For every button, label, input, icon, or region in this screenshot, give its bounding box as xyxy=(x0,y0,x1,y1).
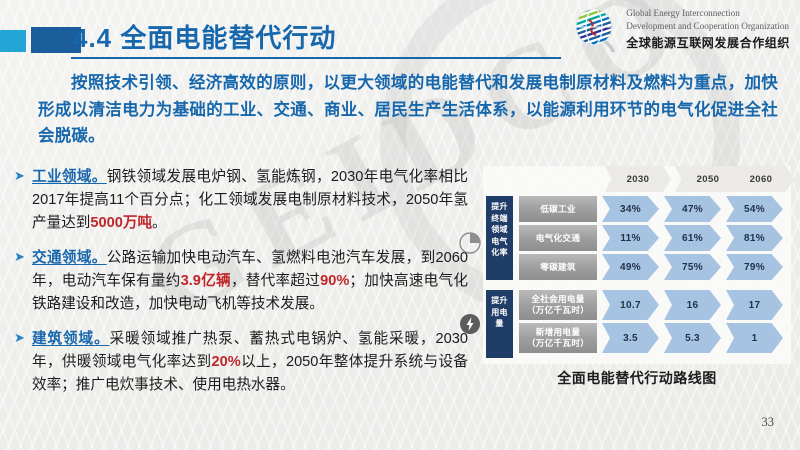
roadmap-group-label: 提升 终端 领域 电气 化率 xyxy=(486,196,513,280)
bullet-arrow-icon: ➤ xyxy=(14,250,25,263)
bullet-term-separator: 。 xyxy=(92,250,107,266)
category-line: （万亿千瓦时） xyxy=(527,338,589,349)
bullet-item-industry: ➤ 工业领域。钢铁领域发展电炉钢、氢能炼钢，2030年电气化率相比2017年提高… xyxy=(10,166,468,235)
bullet-arrow-icon: ➤ xyxy=(14,169,25,182)
group-label-line: 用电 xyxy=(487,307,512,319)
bullet-highlight-2: 90% xyxy=(320,273,349,289)
row-category-label: 全社会用电量 （万亿千瓦时） xyxy=(519,290,597,320)
group-label-line: 提升 xyxy=(487,201,512,213)
table-row: 低碳工业 34% 47% 54% xyxy=(519,196,783,222)
logo-chinese-name: 全球能源互联网发展合作组织 xyxy=(626,34,790,51)
roadmap-group-rows: 全社会用电量 （万亿千瓦时） 10.7 16 17 新增用电量 （万亿千瓦时） … xyxy=(519,290,783,356)
category-line: （万亿千瓦时） xyxy=(527,305,589,316)
group-label-line: 终端 xyxy=(487,213,512,225)
row-value-2060: 1 xyxy=(726,323,783,353)
logo-english-line-2: Development and Cooperation Organization xyxy=(626,20,790,32)
slide-header: 4.4 全面电能替代行动 xyxy=(0,0,800,63)
globe-logo-icon xyxy=(573,6,619,52)
row-value-2030: 11% xyxy=(602,225,659,251)
group-label-line: 化率 xyxy=(487,247,512,259)
bullet-term: 建筑领域 xyxy=(32,331,94,347)
logo-english-line-1: Global Energy Interconnection xyxy=(626,7,790,19)
table-row: 全社会用电量 （万亿千瓦时） 10.7 16 17 xyxy=(519,290,783,320)
row-value-2050: 47% xyxy=(664,196,721,222)
category-line: 全社会用电量 xyxy=(531,294,584,305)
bullet-text-part-2: 。 xyxy=(152,215,167,231)
category-line: 电气化交通 xyxy=(536,233,580,244)
group-label-line: 量 xyxy=(487,318,512,330)
bullet-list: ➤ 工业领域。钢铁领域发展电炉钢、氢能炼钢，2030年电气化率相比2017年提高… xyxy=(10,166,468,409)
bullet-term: 交通领域 xyxy=(32,250,92,266)
roadmap-year-2060: 2060 xyxy=(728,166,794,192)
logo-text-block: Global Energy Interconnection Developmen… xyxy=(626,7,790,51)
bullet-highlight-1: 5000万吨 xyxy=(90,215,152,231)
row-value-2050: 75% xyxy=(664,254,721,280)
bullet-item-transport: ➤ 交通领域。公路运输加快电动汽车、氢燃料电池汽车发展，到2060年，电动汽车保… xyxy=(10,247,468,316)
row-value-2060: 54% xyxy=(726,196,783,222)
title-underline-rule xyxy=(71,57,561,59)
row-category-label: 新增用电量 （万亿千瓦时） xyxy=(519,323,597,353)
table-row: 新增用电量 （万亿千瓦时） 3.5 5.3 1 xyxy=(519,323,783,353)
page-title: 4.4 全面电能替代行动 xyxy=(73,18,336,55)
bullet-highlight-1: 20% xyxy=(212,354,241,370)
bullet-term-separator: 。 xyxy=(92,169,107,185)
row-value-2030: 10.7 xyxy=(602,290,659,320)
row-value-2030: 34% xyxy=(602,196,659,222)
roadmap-group-rows: 低碳工业 34% 47% 54% 电气化交通 11% 61% 81% 零碳建筑 … xyxy=(519,196,783,283)
bullet-item-building: ➤ 建筑领域。采暖领域推广热泵、蓄热式电锅炉、氢能采暖，2030年，供暖领域电气… xyxy=(10,328,468,397)
row-value-2050: 16 xyxy=(664,290,721,320)
row-value-2060: 81% xyxy=(726,225,783,251)
group-label-line: 领域 xyxy=(487,224,512,236)
group-label-line: 提升 xyxy=(487,295,512,307)
row-value-2050: 61% xyxy=(664,225,721,251)
row-category-label: 低碳工业 xyxy=(519,196,597,222)
bullet-term: 工业领域 xyxy=(32,169,92,185)
category-line: 新增用电量 xyxy=(536,327,580,338)
roadmap-caption: 全面电能替代行动路线图 xyxy=(483,368,791,388)
page-number: 33 xyxy=(762,415,775,430)
bullet-body: 工业领域。钢铁领域发展电炉钢、氢能炼钢，2030年电气化率相比2017年提高11… xyxy=(10,166,468,235)
header-accent-cyan-block xyxy=(0,30,26,52)
bullet-body: 建筑领域。采暖领域推广热泵、蓄热式电锅炉、氢能采暖，2030年，供暖领域电气化率… xyxy=(10,328,468,397)
group-label-line: 电气 xyxy=(487,236,512,248)
table-row: 电气化交通 11% 61% 81% xyxy=(519,225,783,251)
roadmap-group-label: 提升 用电 量 xyxy=(486,290,513,358)
row-value-2050: 5.3 xyxy=(664,323,721,353)
lead-paragraph: 按照技术引领、经济高效的原则，以更大领域的电能替代和发展电制原材料及燃料为重点，… xyxy=(38,70,778,150)
roadmap-year-2030: 2030 xyxy=(605,166,671,192)
bullet-text-part-2: ，替代率超过 xyxy=(231,273,320,289)
row-value-2030: 49% xyxy=(602,254,659,280)
row-category-label: 零碳建筑 xyxy=(519,254,597,280)
row-category-label: 电气化交通 xyxy=(519,225,597,251)
bullet-body: 交通领域。公路运输加快电动汽车、氢燃料电池汽车发展，到2060年，电动汽车保有量… xyxy=(10,247,468,316)
bullet-highlight-1: 3.9亿辆 xyxy=(181,273,231,289)
category-line: 零碳建筑 xyxy=(540,262,576,273)
row-value-2060: 17 xyxy=(726,290,783,320)
row-value-2060: 79% xyxy=(726,254,783,280)
roadmap-table: 2030 2050 2060 提升 终端 领域 电气 化率 低碳工业 34% 4… xyxy=(483,166,791,364)
roadmap-year-header-row: 2030 2050 2060 xyxy=(483,166,791,192)
organization-logo: Global Energy Interconnection Developmen… xyxy=(573,6,790,52)
category-line: 低碳工业 xyxy=(540,204,576,215)
bullet-term-separator: 。 xyxy=(94,331,110,347)
table-row: 零碳建筑 49% 75% 79% xyxy=(519,254,783,280)
row-value-2030: 3.5 xyxy=(602,323,659,353)
bullet-arrow-icon: ➤ xyxy=(14,331,25,344)
